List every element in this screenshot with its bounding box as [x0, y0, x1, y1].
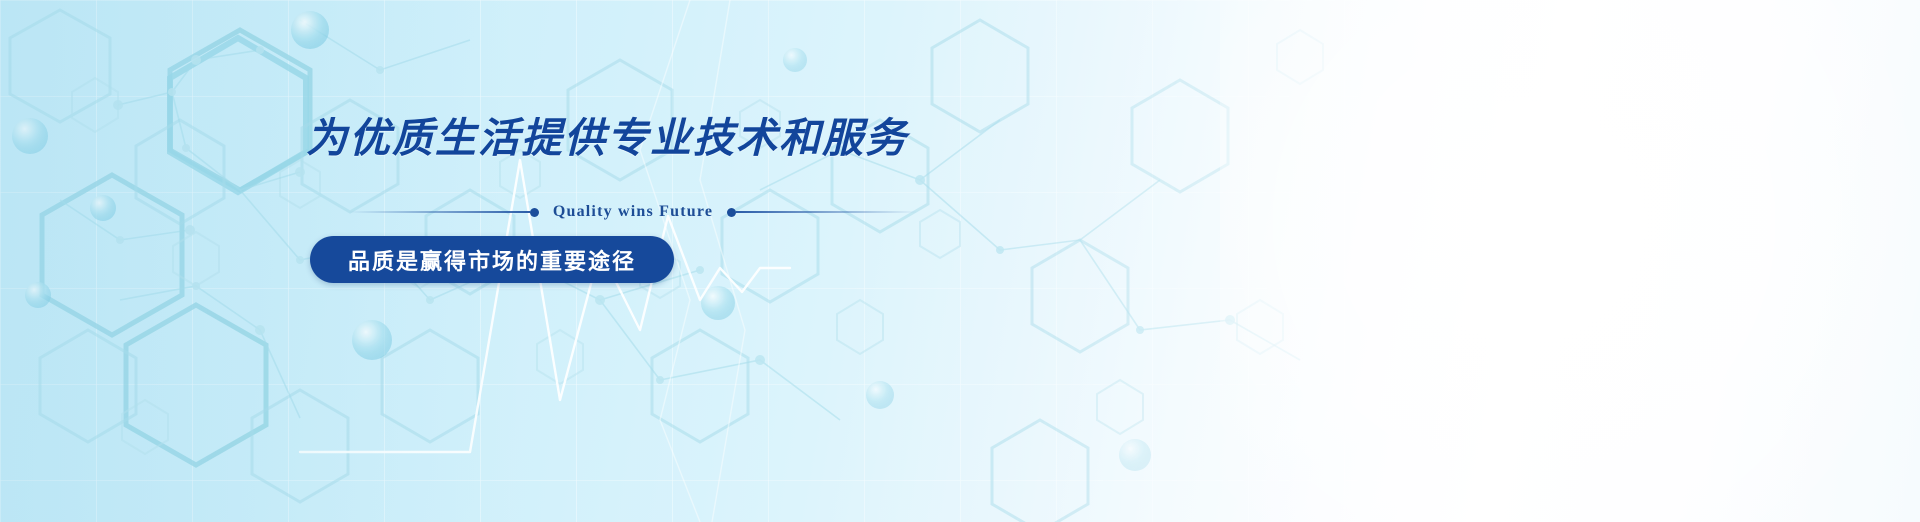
hero-banner: 为优质生活提供专业技术和服务 Quality wins Future 品质是赢得…: [0, 0, 1920, 522]
page-title: 为优质生活提供专业技术和服务: [306, 118, 1070, 159]
subtitle-dot-right-icon: [727, 208, 736, 217]
subtitle-line-left: [348, 211, 530, 213]
subtitle-line-right: [736, 211, 918, 213]
subtitle-dot-left-icon: [530, 208, 539, 217]
banner-content: 为优质生活提供专业技术和服务 Quality wins Future 品质是赢得…: [310, 118, 1070, 283]
subtitle-english: Quality wins Future: [539, 203, 727, 221]
cta-button[interactable]: 品质是赢得市场的重要途径: [310, 236, 674, 283]
subtitle-row: Quality wins Future: [348, 203, 918, 221]
